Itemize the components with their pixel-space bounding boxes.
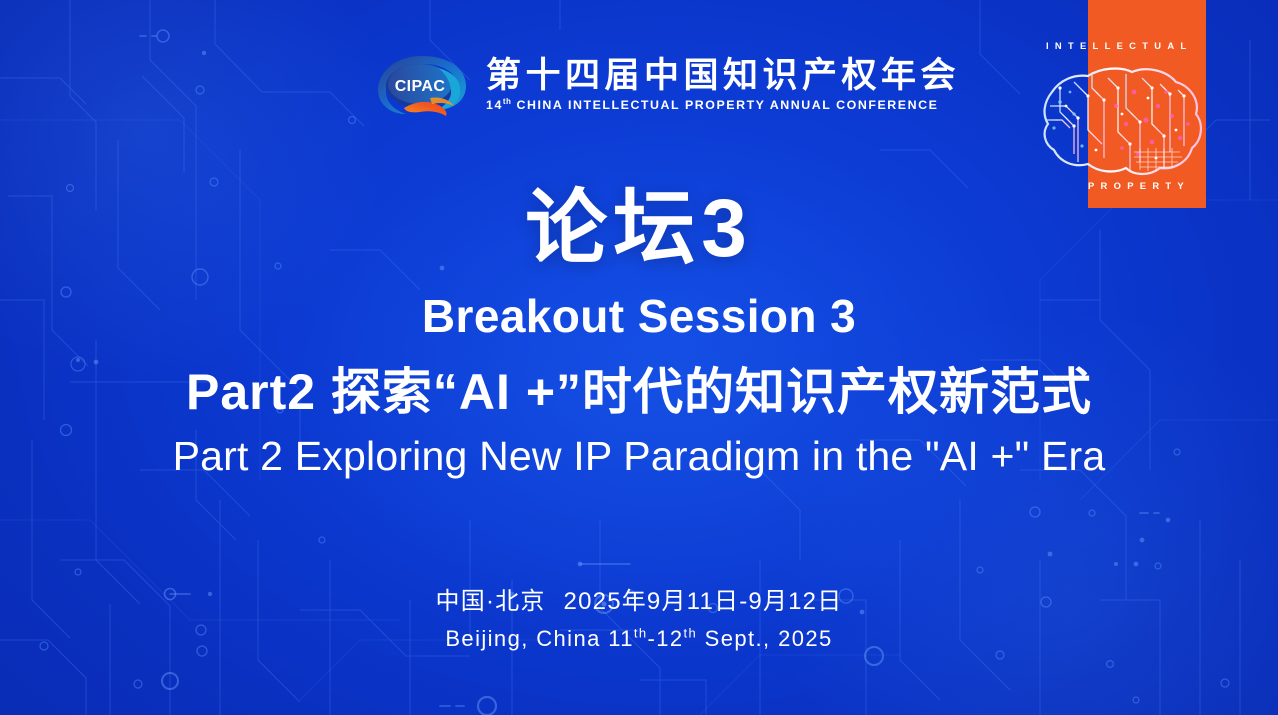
event-date-cn: 2025年9月11日-9月12日 xyxy=(564,588,843,615)
ordinal-suffix-end: th xyxy=(684,626,698,641)
event-location-cn: 中国·北京 xyxy=(436,588,546,615)
event-month-year-en: Sept., 2025 xyxy=(697,626,832,651)
main-title-block: 论坛3 Breakout Session 3 Part2 探索“AI +”时代的… xyxy=(0,188,1278,480)
conference-title-cn: 第十四届中国知识产权年会 xyxy=(486,57,960,95)
ordinal-suffix-start: th xyxy=(634,626,648,641)
circuit-brain-icon xyxy=(1030,58,1212,184)
cipac-logo-icon: CIPAC xyxy=(374,52,470,118)
forum-title-en: Breakout Session 3 xyxy=(0,292,1278,340)
ip-label-property: PROPERTY xyxy=(1088,180,1190,191)
conference-poster: CIPAC 第十四届中国知识产权年会 14th CHINA INTELLECTU… xyxy=(0,0,1278,715)
event-info-block: 中国·北京2025年9月11日-9月12日 Beijing, China 11t… xyxy=(0,586,1278,654)
conference-edition-number: 14 xyxy=(486,98,503,112)
event-location-en: Beijing, China 11 xyxy=(445,626,634,651)
svg-text:CIPAC: CIPAC xyxy=(395,78,446,95)
conference-title-en-rest: CHINA INTELLECTUAL PROPERTY ANNUAL CONFE… xyxy=(511,98,938,112)
conference-brand-lockup: CIPAC 第十四届中国知识产权年会 14th CHINA INTELLECTU… xyxy=(374,52,960,118)
event-location-date-en: Beijing, China 11th-12th Sept., 2025 xyxy=(0,624,1278,654)
event-location-date-cn: 中国·北京2025年9月11日-9月12日 xyxy=(0,586,1278,618)
conference-title-en: 14th CHINA INTELLECTUAL PROPERTY ANNUAL … xyxy=(486,98,960,113)
ip-label-intellectual: INTELLECTUAL xyxy=(1046,40,1192,51)
session-subtitle-cn: Part2 探索“AI +”时代的知识产权新范式 xyxy=(0,364,1278,420)
forum-title-cn: 论坛3 xyxy=(0,188,1278,270)
session-subtitle-en: Part 2 Exploring New IP Paradigm in the … xyxy=(0,434,1278,480)
date-range-separator: -12 xyxy=(648,626,684,651)
